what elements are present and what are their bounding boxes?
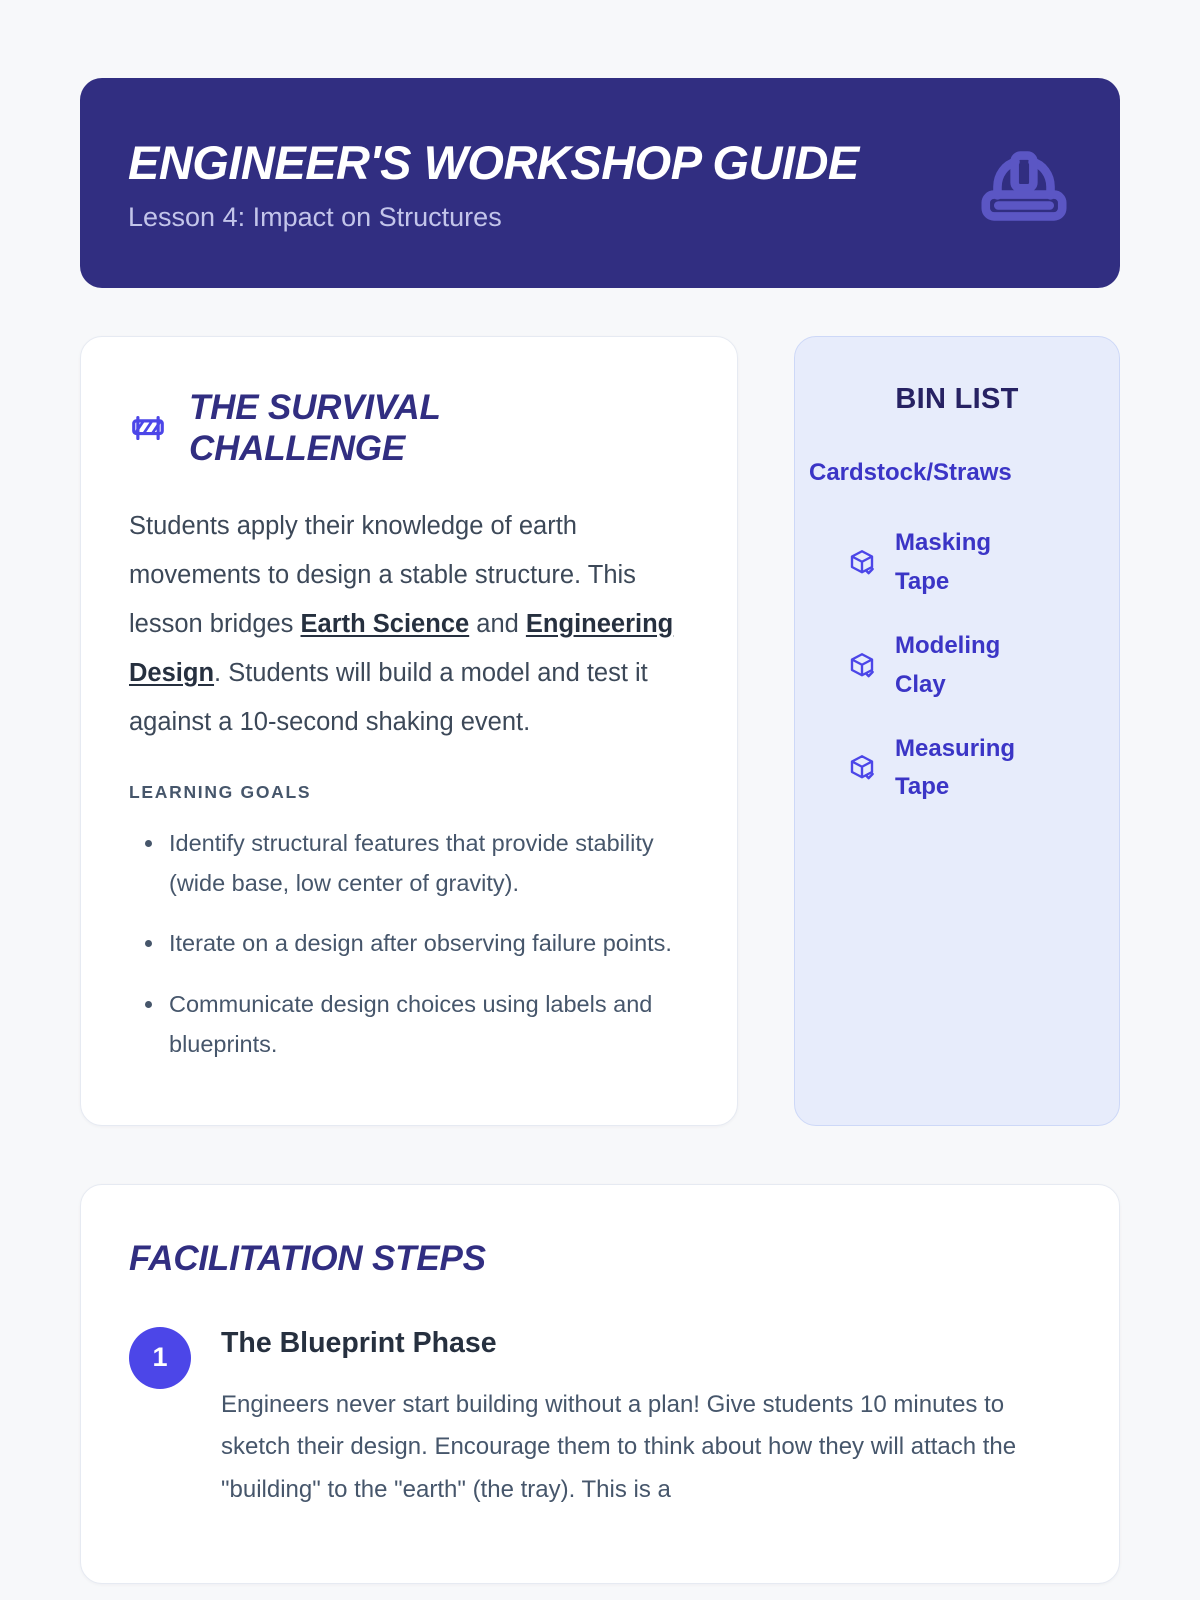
content-grid: THE SURVIVAL CHALLENGE Students apply th… xyxy=(80,336,1120,1126)
overview-paragraph: Students apply their knowledge of earth … xyxy=(129,502,689,748)
package-check-icon xyxy=(847,651,877,681)
bin-item-label: Masking Tape xyxy=(895,524,1045,601)
step-title: The Blueprint Phase xyxy=(221,1325,1071,1362)
survival-challenge-card: THE SURVIVAL CHALLENGE Students apply th… xyxy=(80,336,738,1126)
construction-barrier-icon xyxy=(129,409,167,447)
bin-list-items: Cardstock/Straws Masking Tape xyxy=(795,454,1119,807)
page-title: ENGINEER'S WORKSHOP GUIDE xyxy=(128,138,859,187)
list-item[interactable]: Masking Tape xyxy=(795,524,1119,601)
page-root: ENGINEER'S WORKSHOP GUIDE Lesson 4: Impa… xyxy=(0,78,1200,1600)
bin-item-label: Modeling Clay xyxy=(895,627,1045,704)
list-item[interactable]: Cardstock/Straws xyxy=(795,454,1119,492)
header-text-group: ENGINEER'S WORKSHOP GUIDE Lesson 4: Impa… xyxy=(128,132,859,234)
list-item[interactable]: Measuring Tape xyxy=(795,730,1119,807)
overview-text-2: and xyxy=(469,610,526,638)
learning-goals-label: LEARNING GOALS xyxy=(129,782,689,803)
bin-list-title: BIN LIST xyxy=(795,383,1119,416)
card-title: THE SURVIVAL CHALLENGE xyxy=(189,387,529,470)
link-earth-science[interactable]: Earth Science xyxy=(301,610,470,638)
bin-list-panel: BIN LIST Cardstock/Straws xyxy=(794,336,1120,1126)
bin-item-label: Cardstock/Straws xyxy=(809,454,1012,492)
facilitation-title: FACILITATION STEPS xyxy=(129,1239,1071,1279)
step-description: Engineers never start building without a… xyxy=(221,1384,1071,1512)
step-content: The Blueprint Phase Engineers never star… xyxy=(221,1325,1071,1512)
list-item: Communicate design choices using labels … xyxy=(129,984,689,1065)
package-check-icon xyxy=(847,548,877,578)
card-header: THE SURVIVAL CHALLENGE xyxy=(129,387,689,470)
list-item[interactable]: Modeling Clay xyxy=(795,627,1119,704)
step-number-badge: 1 xyxy=(129,1327,191,1389)
bin-item-label: Measuring Tape xyxy=(895,730,1045,807)
package-check-icon xyxy=(847,753,877,783)
list-item: Iterate on a design after observing fail… xyxy=(129,923,689,963)
list-item: Identify structural features that provid… xyxy=(129,823,689,904)
learning-goals-list: Identify structural features that provid… xyxy=(129,823,689,1065)
facilitation-step: 1 The Blueprint Phase Engineers never st… xyxy=(129,1325,1071,1512)
header-banner: ENGINEER'S WORKSHOP GUIDE Lesson 4: Impa… xyxy=(80,78,1120,288)
facilitation-steps-card: FACILITATION STEPS 1 The Blueprint Phase… xyxy=(80,1184,1120,1584)
lesson-subtitle: Lesson 4: Impact on Structures xyxy=(128,201,859,233)
hard-hat-icon xyxy=(976,147,1072,225)
